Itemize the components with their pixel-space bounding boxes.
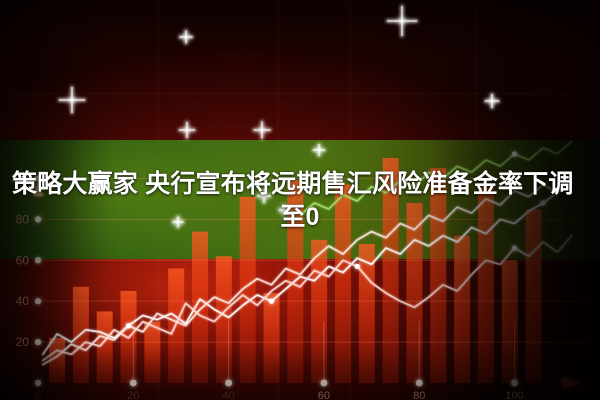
news-banner-image: 020406080100 20406080100 策略大赢家 央行宣布将远期售汇… — [0, 0, 600, 400]
headline-text: 策略大赢家 央行宣布将远期售汇风险准备金率下调 至0 — [0, 168, 600, 234]
headline-line-2: 至0 — [0, 201, 600, 234]
headline-line-1: 策略大赢家 央行宣布将远期售汇风险准备金率下调 — [0, 168, 600, 201]
